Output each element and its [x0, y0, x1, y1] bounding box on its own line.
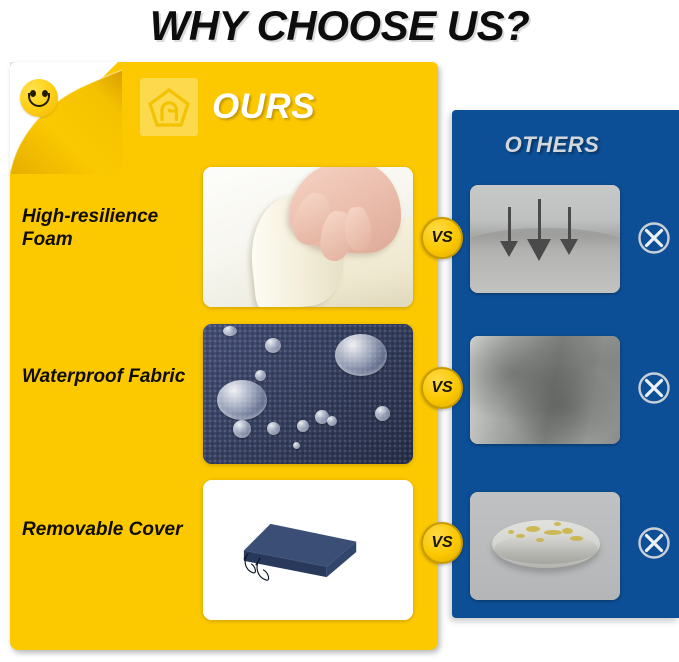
circled-x-icon — [637, 526, 671, 560]
feature-label-high-resilience-foam: High-resilience Foam — [22, 205, 197, 251]
infographic-root: WHY CHOOSE US? OURS — [0, 0, 679, 662]
ours-image-waterproof-fabric — [203, 324, 413, 464]
circled-x-icon — [637, 221, 671, 255]
others-label: OTHERS — [452, 132, 652, 158]
vs-badge-3: VS — [421, 522, 463, 564]
page-title: WHY CHOOSE US? — [0, 0, 679, 52]
others-image-sagging-foam — [470, 185, 620, 293]
circled-x-icon — [637, 371, 671, 405]
ours-image-removable-cover — [203, 480, 413, 620]
smiley-face-icon — [20, 79, 58, 117]
pentagon-house-icon — [140, 78, 198, 136]
feature-label-removable-cover: Removable Cover — [22, 518, 197, 541]
down-arrow-icon — [500, 241, 518, 257]
down-arrow-icon — [560, 239, 578, 255]
others-image-soaked-fabric — [470, 336, 620, 444]
others-image-dirty-cushion — [470, 492, 620, 600]
ours-label: OURS — [212, 87, 315, 127]
ours-image-high-resilience-foam — [203, 167, 413, 307]
ours-header: OURS — [140, 78, 315, 136]
page-curl-fold — [10, 62, 122, 174]
vs-badge-2: VS — [421, 367, 463, 409]
vs-badge-1: VS — [421, 217, 463, 259]
down-arrow-icon — [527, 239, 551, 261]
feature-label-waterproof-fabric: Waterproof Fabric — [22, 365, 197, 388]
